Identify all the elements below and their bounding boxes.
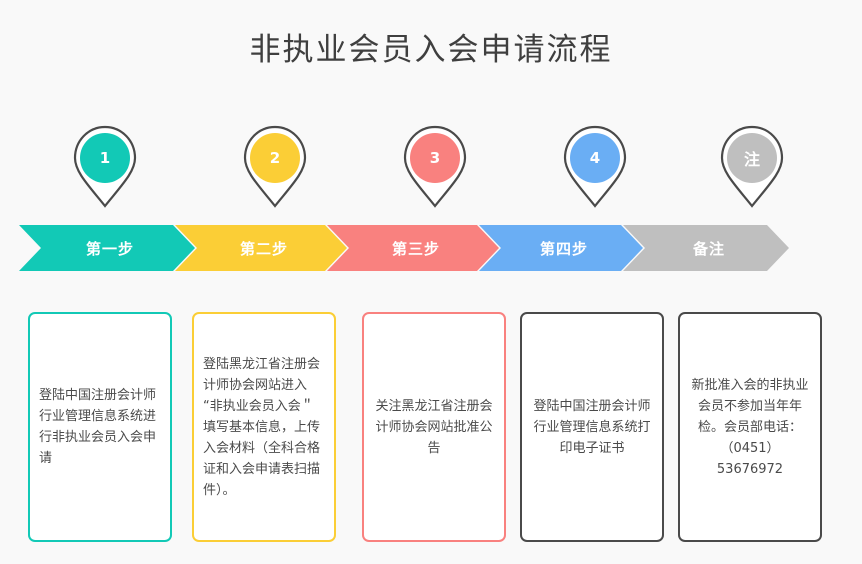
step-chevron-2[interactable]: 第二步: [175, 225, 347, 271]
content-box-text: 登陆黑龙江省注册会计师协会网站进入“非执业会员入会＂填写基本信息，上传入会材料（…: [203, 354, 325, 501]
step-chevron-1[interactable]: 第一步: [19, 225, 195, 271]
pin-marker-4-label: 4: [570, 133, 620, 183]
step-chevron-label: 第二步: [240, 238, 288, 259]
step-chevron-label: 第三步: [392, 238, 440, 259]
pin-marker-row: 1234注: [0, 124, 862, 210]
step-chevron-label: 第四步: [540, 238, 588, 259]
pin-marker-1-label: 1: [80, 133, 130, 183]
pin-marker-1: 1: [69, 124, 141, 210]
content-box-text: 新批准入会的非执业会员不参加当年年检。会员部电话：（0451）53676972: [689, 375, 811, 480]
pin-marker-note-label: 注: [727, 133, 777, 183]
pin-marker-3: 3: [399, 124, 471, 210]
content-box-text: 关注黑龙江省注册会计师协会网站批准公告: [373, 396, 495, 459]
content-box-5: 新批准入会的非执业会员不参加当年年检。会员部电话：（0451）53676972: [678, 312, 822, 542]
step-chevron-3[interactable]: 第三步: [327, 225, 499, 271]
content-box-4: 登陆中国注册会计师行业管理信息系统打印电子证书: [520, 312, 664, 542]
pin-marker-note: 注: [716, 124, 788, 210]
content-box-text: 登陆中国注册会计师行业管理信息系统进行非执业会员入会申请: [39, 385, 161, 469]
step-chevron-label: 备注: [693, 238, 725, 259]
content-box-row: 登陆中国注册会计师行业管理信息系统进行非执业会员入会申请登陆黑龙江省注册会计师协…: [0, 312, 862, 544]
content-box-text: 登陆中国注册会计师行业管理信息系统打印电子证书: [531, 396, 653, 459]
content-box-1: 登陆中国注册会计师行业管理信息系统进行非执业会员入会申请: [28, 312, 172, 542]
pin-marker-2-label: 2: [250, 133, 300, 183]
step-chevron-4[interactable]: 第四步: [479, 225, 643, 271]
pin-marker-4: 4: [559, 124, 631, 210]
pin-marker-3-label: 3: [410, 133, 460, 183]
step-chevron-5[interactable]: 备注: [623, 225, 789, 271]
content-box-3: 关注黑龙江省注册会计师协会网站批准公告: [362, 312, 506, 542]
page-title: 非执业会员入会申请流程: [0, 28, 862, 72]
step-banner: 第一步第二步第三步第四步备注: [19, 225, 847, 271]
pin-marker-2: 2: [239, 124, 311, 210]
content-box-2: 登陆黑龙江省注册会计师协会网站进入“非执业会员入会＂填写基本信息，上传入会材料（…: [192, 312, 336, 542]
step-chevron-label: 第一步: [86, 238, 134, 259]
